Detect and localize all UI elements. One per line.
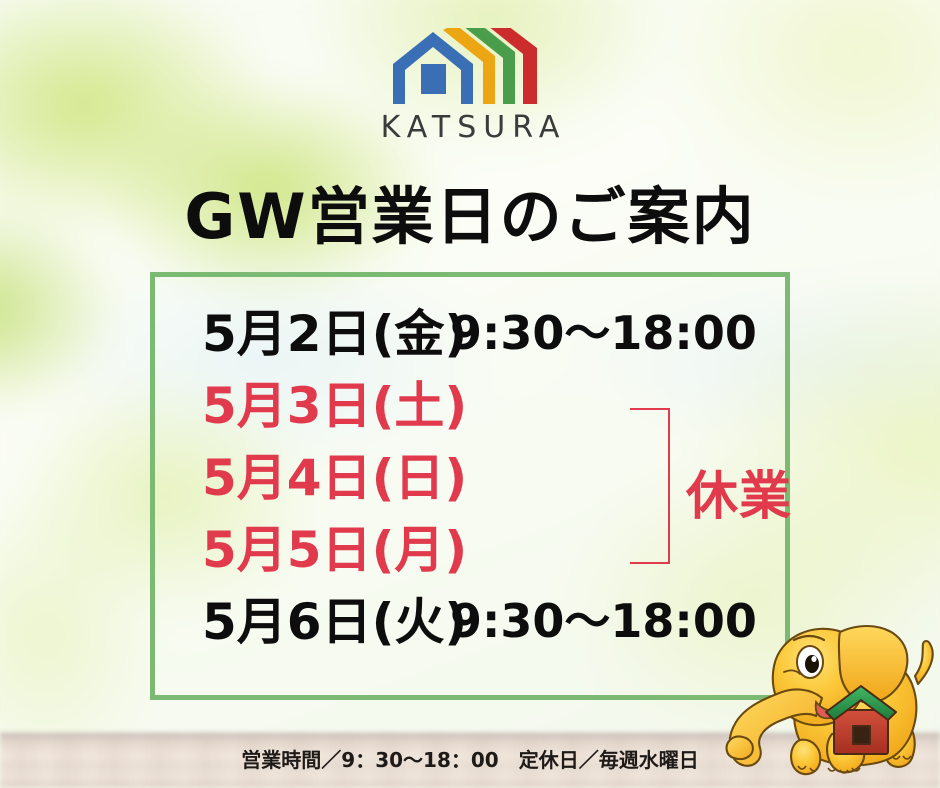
schedule-date: 5月6日(火) bbox=[150, 582, 450, 654]
house-roof-stripes-logo-icon bbox=[385, 28, 555, 108]
schedule-time: 9:30〜18:00 bbox=[450, 585, 757, 651]
right-bracket-icon bbox=[630, 408, 670, 564]
closed-status-label: 休業 bbox=[686, 454, 792, 529]
table-row: 5月2日(金) 9:30〜18:00 bbox=[150, 294, 790, 366]
schedule-time: 9:30〜18:00 bbox=[450, 297, 757, 363]
poster-canvas: KATSURA GW営業日のご案内 5月2日(金) 9:30〜18:00 5月3… bbox=[0, 0, 940, 788]
table-row: 5月6日(火) 9:30〜18:00 bbox=[150, 582, 790, 654]
schedule-date: 5月2日(金) bbox=[150, 294, 450, 366]
schedule-date: 5月5日(月) bbox=[150, 510, 450, 582]
schedule-rows: 5月2日(金) 9:30〜18:00 5月3日(土) 5月4日(日) 5月5日(… bbox=[150, 272, 790, 700]
brand-wordmark: KATSURA bbox=[0, 110, 940, 145]
elephant-mascot-holding-house-icon bbox=[722, 606, 940, 788]
brand-logo: KATSURA bbox=[0, 28, 940, 145]
page-title: GW営業日のご案内 bbox=[0, 166, 940, 256]
table-row: 5月3日(土) bbox=[150, 366, 790, 438]
schedule-date: 5月4日(日) bbox=[150, 438, 450, 510]
schedule-date: 5月3日(土) bbox=[150, 366, 450, 438]
